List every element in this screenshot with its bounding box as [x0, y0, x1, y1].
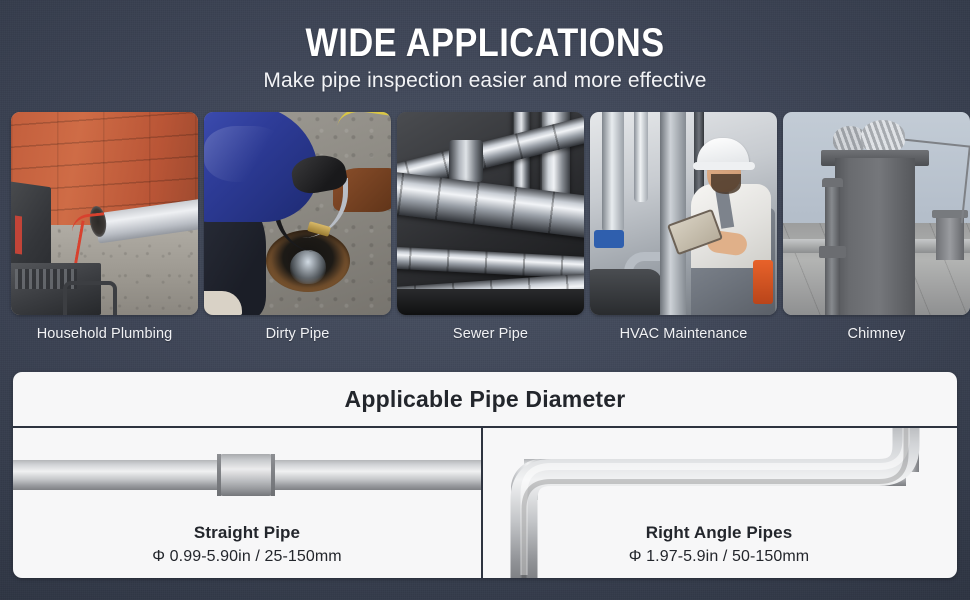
- pipe-coupler-icon: [219, 454, 273, 496]
- straight-pipe-column: Straight Pipe Φ 0.99-5.90in / 25-150mm: [13, 428, 483, 578]
- application-card-hvac-maintenance[interactable]: HVAC Maintenance: [590, 112, 777, 342]
- page-subtitle: Make pipe inspection easier and more eff…: [0, 69, 970, 93]
- household-plumbing-photo: [11, 112, 198, 315]
- right-angle-pipe-column: Right Angle Pipes Φ 1.97-5.9in / 50-150m…: [483, 428, 955, 578]
- hvac-maintenance-photo: [590, 112, 777, 315]
- sewer-pipe-photo: [397, 112, 584, 315]
- page-title: WIDE APPLICATIONS: [68, 22, 902, 64]
- applicable-pipe-diameter-panel: Applicable Pipe Diameter Straight Pipe Φ…: [13, 372, 957, 578]
- panel-header: Applicable Pipe Diameter: [13, 372, 957, 428]
- application-card-label: Sewer Pipe: [397, 326, 584, 342]
- application-cards: Household Plumbing: [11, 112, 959, 342]
- straight-pipe-caption: Straight Pipe Φ 0.99-5.90in / 25-150mm: [13, 523, 481, 566]
- straight-pipe-spec: Φ 0.99-5.90in / 25-150mm: [13, 548, 481, 566]
- chimney-photo: [783, 112, 970, 315]
- panel-body: Straight Pipe Φ 0.99-5.90in / 25-150mm: [13, 428, 957, 578]
- straight-pipe-title: Straight Pipe: [13, 523, 481, 543]
- wide-applications-banner: WIDE APPLICATIONS Make pipe inspection e…: [0, 0, 970, 600]
- right-angle-pipe-caption: Right Angle Pipes Φ 1.97-5.9in / 50-150m…: [483, 523, 955, 566]
- application-card-household-plumbing[interactable]: Household Plumbing: [11, 112, 198, 342]
- panel-heading-text: Applicable Pipe Diameter: [345, 386, 626, 413]
- dirty-pipe-photo: [204, 112, 391, 315]
- right-angle-pipe-title: Right Angle Pipes: [483, 523, 955, 543]
- application-card-sewer-pipe[interactable]: Sewer Pipe: [397, 112, 584, 342]
- application-card-label: Dirty Pipe: [204, 326, 391, 342]
- application-card-label: Household Plumbing: [11, 326, 198, 342]
- application-card-label: Chimney: [783, 326, 970, 342]
- application-card-label: HVAC Maintenance: [590, 326, 777, 342]
- banner-header: WIDE APPLICATIONS Make pipe inspection e…: [0, 0, 970, 93]
- right-angle-pipe-spec: Φ 1.97-5.9in / 50-150mm: [483, 548, 955, 566]
- application-card-chimney[interactable]: Chimney: [783, 112, 970, 342]
- application-card-dirty-pipe[interactable]: Dirty Pipe: [204, 112, 391, 342]
